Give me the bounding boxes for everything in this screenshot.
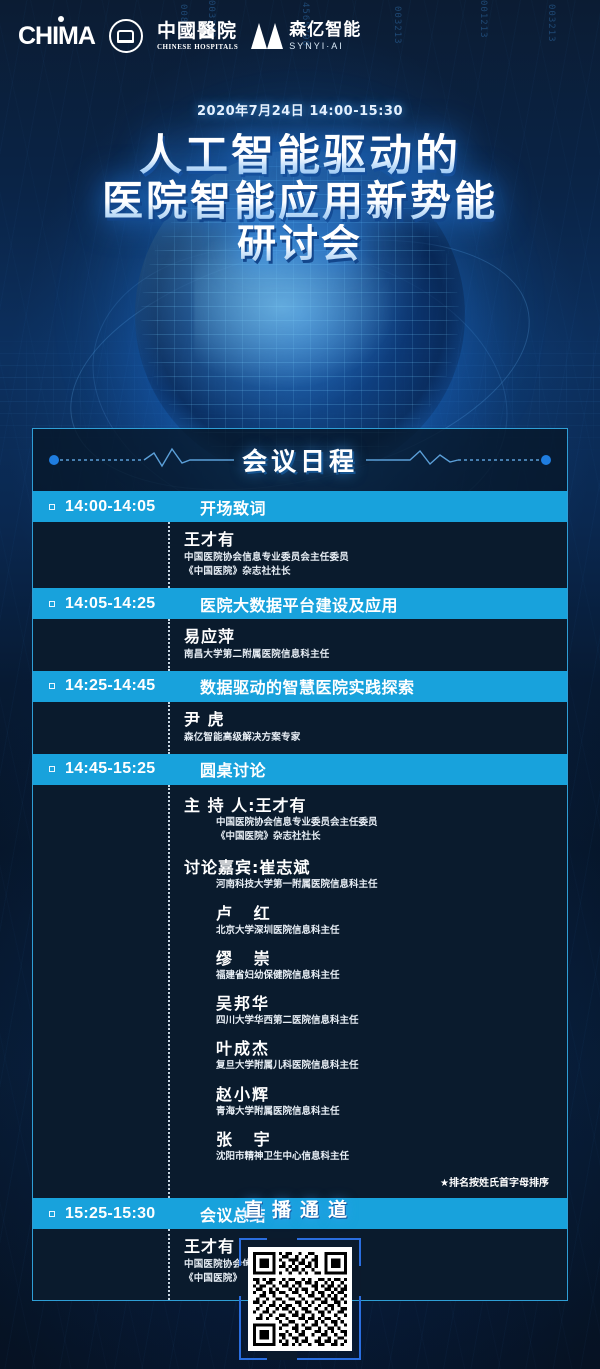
agenda-roundtable-row: 主 持 人:王才有 中国医院协会信息专业委员会主任委员 《中国医院》杂志社社长 … [33, 785, 567, 1198]
panelist-item: 卢 红 北京大学深圳医院信息科主任 [184, 900, 553, 938]
panelist-item: 叶成杰 复旦大学附属儿科医院信息科主任 [184, 1035, 553, 1073]
event-datetime: 2020年7月24日 14:00-15:30 [0, 100, 600, 119]
panelist-name: 卢 红 [184, 900, 553, 924]
logo-chinese-hospitals-en: CHINESE HOSPITALS [157, 44, 238, 51]
time-bullet-icon [49, 766, 55, 772]
logo-synyi-en: SYNYI·AI [289, 42, 361, 51]
page-title: 人工智能驱动的 医院智能应用新势能 研讨会 [0, 133, 600, 266]
agenda-panel: 会议日程 14:00-14:05 开场致词 王才有 中国医院协会信息专业委员会主… [32, 428, 568, 1301]
logo-chima: CHIMA [18, 22, 95, 51]
panelist-org: 北京大学深圳医院信息科主任 [184, 924, 553, 938]
panelist-name: 吴邦华 [184, 990, 553, 1014]
agenda-time: 14:05-14:25 [65, 595, 181, 613]
livestream-title: 直播通道 [0, 1195, 600, 1222]
hero-section: 2020年7月24日 14:00-15:30 人工智能驱动的 医院智能应用新势能… [0, 100, 600, 266]
panelist-org: 福建省妇幼保健院信息科主任 [184, 969, 553, 983]
qr-code-image [253, 1252, 347, 1346]
ecg-line-right-icon [366, 447, 552, 473]
speaker-org-line: 南昌大学第二附属医院信息科主任 [184, 648, 553, 662]
title-line-1: 人工智能驱动的 [0, 133, 600, 179]
logo-chima-text: CHIMA [18, 22, 95, 50]
moderator-org-line: 中国医院协会信息专业委员会主任委员 [184, 816, 553, 830]
agenda-time: 14:25-14:45 [65, 677, 181, 695]
title-line-2: 医院智能应用新势能 [0, 179, 600, 223]
panelist-name: 张 宇 [184, 1126, 553, 1150]
logo-chinese-hospitals: 中國醫院 CHINESE HOSPITALS [157, 22, 238, 51]
agenda-time-row[interactable]: 14:25-14:45 数据驱动的智慧医院实践探索 [33, 671, 567, 702]
footer-section: 直播通道 [0, 1195, 600, 1360]
speaker-name: 易应萍 [184, 626, 553, 648]
panelist-org: 四川大学华西第二医院信息科主任 [184, 1014, 553, 1028]
logo-chinese-hospitals-cn: 中國醫院 [157, 22, 238, 41]
agenda-time: 14:00-14:05 [65, 498, 181, 516]
synyi-mark-icon [252, 23, 282, 49]
agenda-header: 会议日程 [33, 429, 567, 491]
guest-label: 讨论嘉宾:崔志斌 [184, 854, 553, 878]
agenda-subject: 医院大数据平台建设及应用 [200, 592, 398, 616]
agenda-detail-row: 尹 虎 森亿智能高级解决方案专家 [33, 702, 567, 754]
ordering-note: ★排名按姓氏首字母排序 [184, 1174, 553, 1189]
moderator-label: 主 持 人:王才有 [184, 792, 553, 816]
chinese-hospitals-seal-icon [109, 19, 143, 53]
panelist-org: 复旦大学附属儿科医院信息科主任 [184, 1059, 553, 1073]
panelist-name: 缪 崇 [184, 945, 553, 969]
speaker-org-line: 森亿智能高级解决方案专家 [184, 731, 553, 745]
panelist-item: 吴邦华 四川大学华西第二医院信息科主任 [184, 990, 553, 1028]
time-bullet-icon [49, 601, 55, 607]
agenda-detail-row: 易应萍 南昌大学第二附属医院信息科主任 [33, 619, 567, 671]
agenda-time-row[interactable]: 14:05-14:25 医院大数据平台建设及应用 [33, 588, 567, 619]
panelist-name: 叶成杰 [184, 1035, 553, 1059]
roundtable-guests: 讨论嘉宾:崔志斌 河南科技大学第一附属医院信息科主任 卢 红 北京大学深圳医院信… [184, 854, 553, 1164]
logo-synyi: 森亿智能 SYNYI·AI [252, 22, 361, 51]
agenda-time-row[interactable]: 14:00-14:05 开场致词 [33, 491, 567, 522]
panelist-org: 青海大学附属医院信息科主任 [184, 1105, 553, 1119]
speaker-name: 王才有 [184, 529, 553, 551]
roundtable-moderator: 主 持 人:王才有 中国医院协会信息专业委员会主任委员 《中国医院》杂志社社长 [184, 792, 553, 845]
moderator-org-line: 《中国医院》杂志社社长 [184, 830, 553, 844]
agenda-subject: 圆桌讨论 [200, 757, 266, 781]
speaker-org-line: 中国医院协会信息专业委员会主任委员 [184, 551, 553, 565]
panelist-item: 赵小辉 青海大学附属医院信息科主任 [184, 1081, 553, 1119]
agenda-header-title: 会议日程 [242, 442, 358, 478]
guest-org: 河南科技大学第一附属医院信息科主任 [184, 878, 553, 892]
panelist-org: 沈阳市精神卫生中心信息科主任 [184, 1150, 553, 1164]
title-line-3: 研讨会 [0, 224, 600, 266]
agenda-detail-row: 王才有 中国医院协会信息专业委员会主任委员 《中国医院》杂志社社长 [33, 522, 567, 588]
panelist-item: 张 宇 沈阳市精神卫生中心信息科主任 [184, 1126, 553, 1164]
qr-code-container[interactable] [239, 1238, 361, 1360]
logo-bar: CHIMA 中國醫院 CHINESE HOSPITALS 森亿智能 SYNYI·… [0, 0, 600, 72]
agenda-time-row[interactable]: 14:45-15:25 圆桌讨论 [33, 754, 567, 785]
panelist-name: 赵小辉 [184, 1081, 553, 1105]
logo-synyi-cn: 森亿智能 [289, 22, 361, 39]
speaker-org-line: 《中国医院》杂志社社长 [184, 565, 553, 579]
agenda-subject: 开场致词 [200, 495, 266, 519]
time-bullet-icon [49, 683, 55, 689]
agenda-subject: 数据驱动的智慧医院实践探索 [200, 674, 415, 698]
qr-code[interactable] [248, 1247, 352, 1351]
time-bullet-icon [49, 504, 55, 510]
panelist-item: 缪 崇 福建省妇幼保健院信息科主任 [184, 945, 553, 983]
ecg-line-left-icon [48, 447, 234, 473]
agenda-time: 14:45-15:25 [65, 760, 181, 778]
logo-chima-dot-icon [58, 16, 64, 22]
speaker-name: 尹 虎 [184, 709, 553, 731]
